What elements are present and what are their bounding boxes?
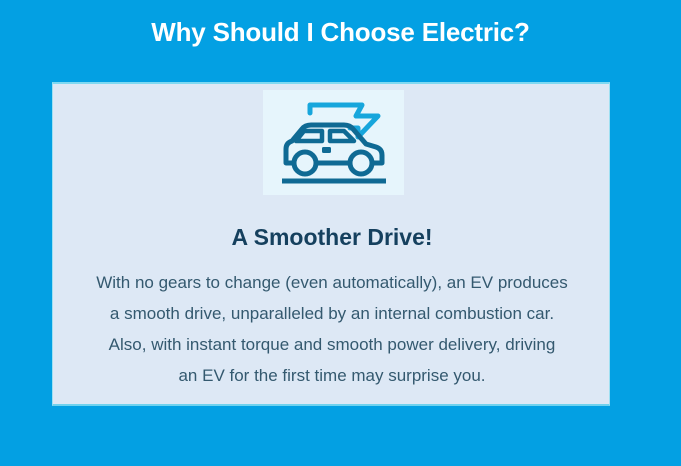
slide-root: Why Should I Choose Electric? [0, 0, 681, 466]
card-body-line: a smooth drive, unparalleled by an inter… [61, 298, 603, 329]
card-body-line: Also, with instant torque and smooth pow… [61, 329, 603, 360]
card-body-line: an EV for the first time may surprise yo… [61, 360, 603, 391]
card-body-line: With no gears to change (even automatica… [61, 267, 603, 298]
card-heading: A Smoother Drive! [53, 223, 611, 251]
icon-tile [263, 90, 404, 195]
electric-car-with-arrow-icon [274, 97, 394, 189]
card-body: With no gears to change (even automatica… [61, 267, 603, 391]
benefit-card: A Smoother Drive! With no gears to chang… [52, 82, 610, 406]
page-title: Why Should I Choose Electric? [0, 16, 681, 48]
